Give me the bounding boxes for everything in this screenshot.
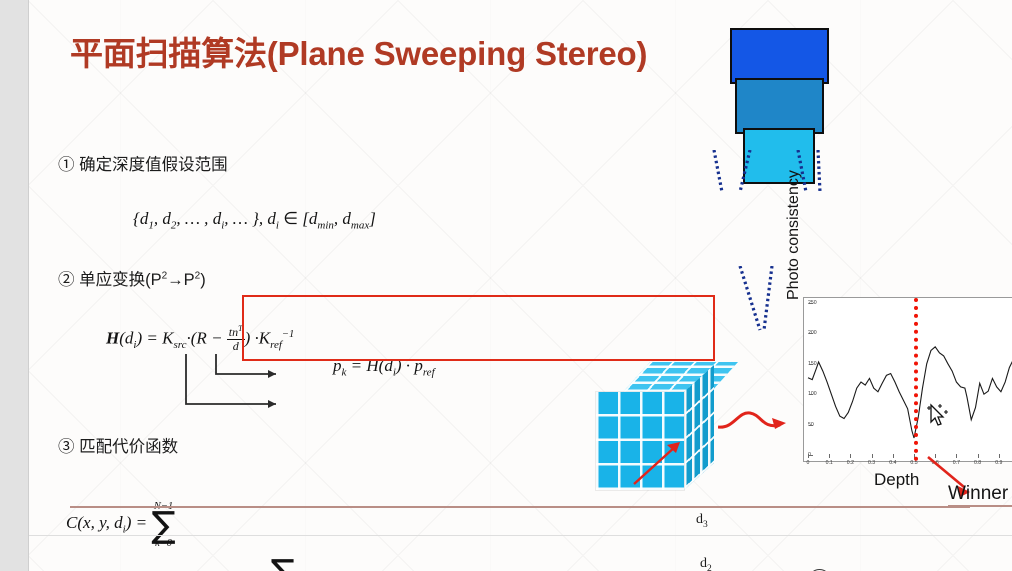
step-1-label: 确定深度值假设范围 xyxy=(79,156,228,174)
annotation-elbow-arrows xyxy=(178,352,298,412)
chart-y-tick-mark xyxy=(809,333,813,334)
chart-x-ticks: 00.10.20.30.40.50.60.70.80.91 xyxy=(804,457,1012,458)
chart-x-tick-mark xyxy=(850,454,851,458)
chart-x-tick-label: 0.3 xyxy=(868,460,875,466)
step-1-marker: ① xyxy=(58,156,75,174)
chart-plot-area xyxy=(804,298,1012,461)
chart-x-tick-mark xyxy=(829,454,830,458)
chart-y-tick-mark xyxy=(809,455,813,456)
cost-function-highlight-box xyxy=(242,295,715,361)
chart-x-tick-mark xyxy=(808,454,809,458)
chart-x-tick-label: 0.9 xyxy=(995,460,1002,466)
chart-y-tick-mark xyxy=(809,364,813,365)
chart-x-tick-mark xyxy=(999,454,1000,458)
slide-left-gutter xyxy=(0,0,29,571)
step-1-heading: ① 确定深度值假设范围 xyxy=(58,151,1012,175)
cube-inner-red-arrow xyxy=(632,440,692,486)
step-2-marker: ② xyxy=(58,271,75,289)
chart-x-tick-label: 0.4 xyxy=(889,460,896,466)
chart-y-ticks: 050100150200250 xyxy=(809,298,810,461)
bottom-divider xyxy=(28,535,1012,536)
winner-callout-label: Winner xyxy=(948,483,1008,505)
mouse-cursor xyxy=(925,403,951,433)
step-3-label: 匹配代价函数 xyxy=(79,438,178,456)
chart-y-tick-mark xyxy=(809,394,813,395)
formula-depth-set: {d1, d2, … , di, … }, di ∈ [dmin, dmax] xyxy=(133,209,1012,231)
sum-inner: ∑ (Δx,Δy)∈W xyxy=(258,549,307,571)
chart-minimum-dashed-line xyxy=(914,298,918,461)
chart-x-tick-mark xyxy=(872,454,873,458)
sum-outer: N−1 ∑ k=0 xyxy=(151,501,175,549)
depth-plane-d2 xyxy=(735,78,824,134)
plane-label-d2: d2 xyxy=(700,556,1012,571)
cube-to-chart-red-arrow xyxy=(718,385,798,445)
chart-x-tick-label: 0.1 xyxy=(826,460,833,466)
step-2-heading: ② 单应变换(P2→P2) xyxy=(58,266,1012,290)
projection-rays-upper xyxy=(700,150,860,195)
depth-plane-d3 xyxy=(730,28,829,84)
chart-x-axis-label: Depth xyxy=(874,470,919,490)
slide-canvas: 平面扫描算法(Plane Sweeping Stereo) ① 确定深度值假设范… xyxy=(28,0,1012,571)
step-3-marker: ③ xyxy=(58,438,75,456)
plane-label-d3: d3 xyxy=(696,512,1012,530)
photo-consistency-chart: 050100150200250 00.10.20.30.40.50.60.70.… xyxy=(803,297,1012,462)
chart-y-axis-label: Photo consistency xyxy=(785,140,803,300)
chart-x-tick-mark xyxy=(893,454,894,458)
citation-divider xyxy=(70,506,970,508)
step-2-label: 单应变换(P2→P2) xyxy=(79,271,206,289)
chart-y-tick-mark xyxy=(809,303,813,304)
chart-y-tick-mark xyxy=(809,425,813,426)
chart-x-tick-label: 0 xyxy=(807,460,810,466)
page-title: 平面扫描算法(Plane Sweeping Stereo) xyxy=(70,27,1012,75)
chart-x-tick-label: 0.2 xyxy=(847,460,854,466)
